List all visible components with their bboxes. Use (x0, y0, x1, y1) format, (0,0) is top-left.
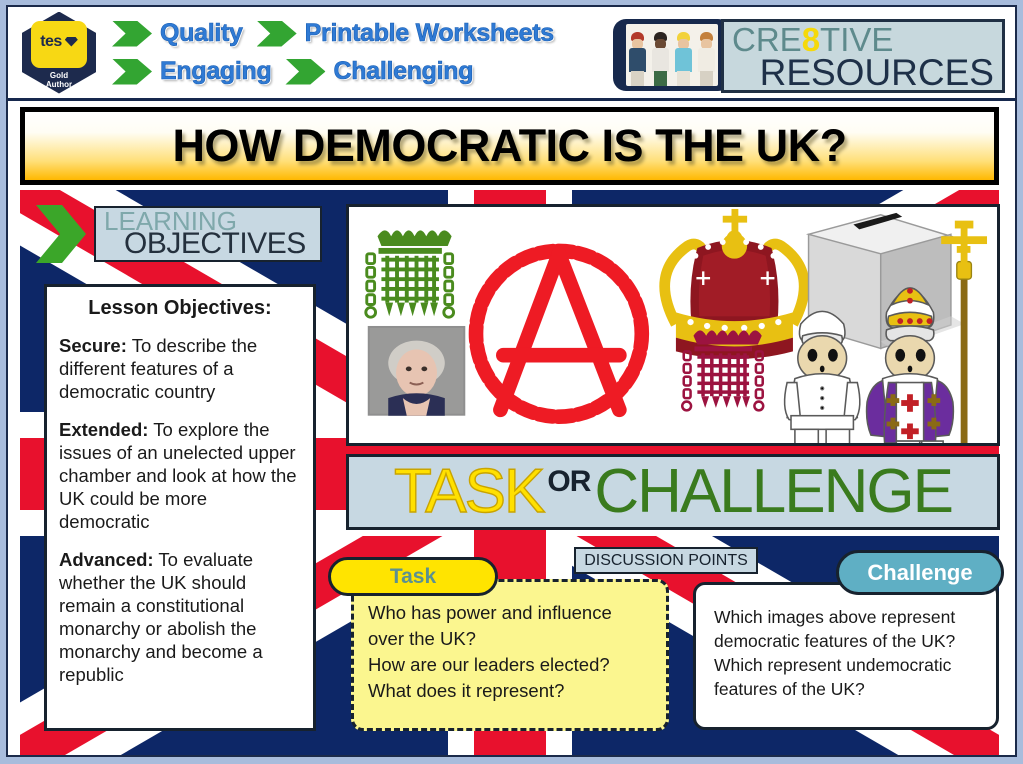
promo-feature-list: Quality Printable Worksheets Engaging Ch… (112, 16, 568, 90)
chevron-right-icon (112, 59, 152, 85)
cre8tive-resources-logo: CRE8TIVE RESOURCES (721, 19, 1005, 93)
resources-wordmark: RESOURCES (732, 56, 994, 90)
task-pill-label: Task (328, 557, 498, 596)
task-line-3: What does it represent? (368, 678, 652, 704)
smartphone-students-icon (613, 19, 731, 91)
task-pill-text: Task (390, 565, 436, 589)
promo-feature-engaging: Engaging (160, 57, 271, 86)
lesson-objectives-panel: Lesson Objectives: Secure: To describe t… (44, 284, 316, 731)
tes-badge-line1: Gold (22, 71, 96, 80)
tes-gold-author-badge: tes Gold Author (22, 12, 96, 94)
promo-feature-quality: Quality (160, 19, 243, 48)
chevron-right-icon (257, 21, 297, 47)
tes-brand-text: tes (40, 33, 62, 50)
banner-challenge-word: CHALLENGE (594, 461, 952, 523)
slide-title-bar: HOW DEMOCRATIC IS THE UK? (20, 107, 999, 185)
chevron-right-icon (285, 59, 325, 85)
challenge-pill-text: Challenge (867, 560, 972, 586)
student-figure (697, 32, 716, 86)
objective-extended: Extended: To explore the issues of an un… (59, 418, 301, 533)
tes-badge-subtitle: Gold Author (22, 71, 96, 89)
promo-banner: tes Gold Author Quality Printable Worksh… (8, 7, 1015, 101)
task-or-challenge-banner: TASK OR CHALLENGE (346, 454, 1000, 530)
student-figure (674, 32, 693, 86)
tes-brand-label: tes (31, 34, 87, 50)
challenge-line-1: Which images above represent democratic … (714, 605, 980, 653)
slide-title-gradient: HOW DEMOCRATIC IS THE UK? (25, 112, 994, 180)
slide-canvas: tes Gold Author Quality Printable Worksh… (6, 5, 1017, 757)
objective-secure-level: Secure (59, 335, 121, 356)
promo-feature-row-2: Engaging Challenging (112, 54, 568, 90)
banner-task-word: TASK (394, 461, 543, 523)
promo-feature-row-1: Quality Printable Worksheets (112, 16, 568, 52)
learning-objectives-header: LEARNING OBJECTIVES (36, 203, 322, 265)
phone-screen (626, 24, 718, 86)
chevron-right-icon (36, 205, 86, 263)
page-title: HOW DEMOCRATIC IS THE UK? (172, 120, 846, 172)
discussion-points-label: DISCUSSION POINTS (584, 552, 748, 570)
student-figure (628, 32, 647, 86)
learning-objectives-title-box: LEARNING OBJECTIVES (94, 206, 322, 262)
lesson-objectives-heading: Lesson Objectives: (59, 297, 301, 320)
task-line-1: Who has power and influence over the UK? (368, 600, 652, 652)
promo-feature-challenging: Challenging (333, 57, 473, 86)
challenge-line-2: Which represent undemocratic features of… (714, 653, 980, 701)
discussion-points-tab: DISCUSSION POINTS (574, 547, 758, 574)
objective-advanced-level: Advanced (59, 549, 147, 570)
tes-badge-line2: Author (22, 80, 96, 89)
challenge-content-box: Which images above represent democratic … (693, 582, 999, 730)
student-figure (651, 32, 670, 86)
democracy-images-panel (346, 204, 1000, 446)
task-content-box: Who has power and influence over the UK?… (351, 579, 669, 731)
objective-advanced: Advanced: To evaluate whether the UK sho… (59, 548, 301, 686)
banner-or-word: OR (547, 467, 590, 497)
learning-objectives-line2: OBJECTIVES (124, 228, 306, 260)
slide-root: tes Gold Author Quality Printable Worksh… (0, 0, 1023, 764)
objective-secure: Secure: To describe the different featur… (59, 334, 301, 403)
promo-feature-printable-worksheets: Printable Worksheets (305, 19, 554, 48)
prime-minister-photo (368, 326, 466, 416)
chevron-right-icon (112, 21, 152, 47)
task-line-2: How are our leaders elected? (368, 652, 652, 678)
objective-extended-level: Extended (59, 419, 142, 440)
challenge-pill-label: Challenge (836, 550, 1004, 595)
diamond-icon (65, 37, 78, 47)
